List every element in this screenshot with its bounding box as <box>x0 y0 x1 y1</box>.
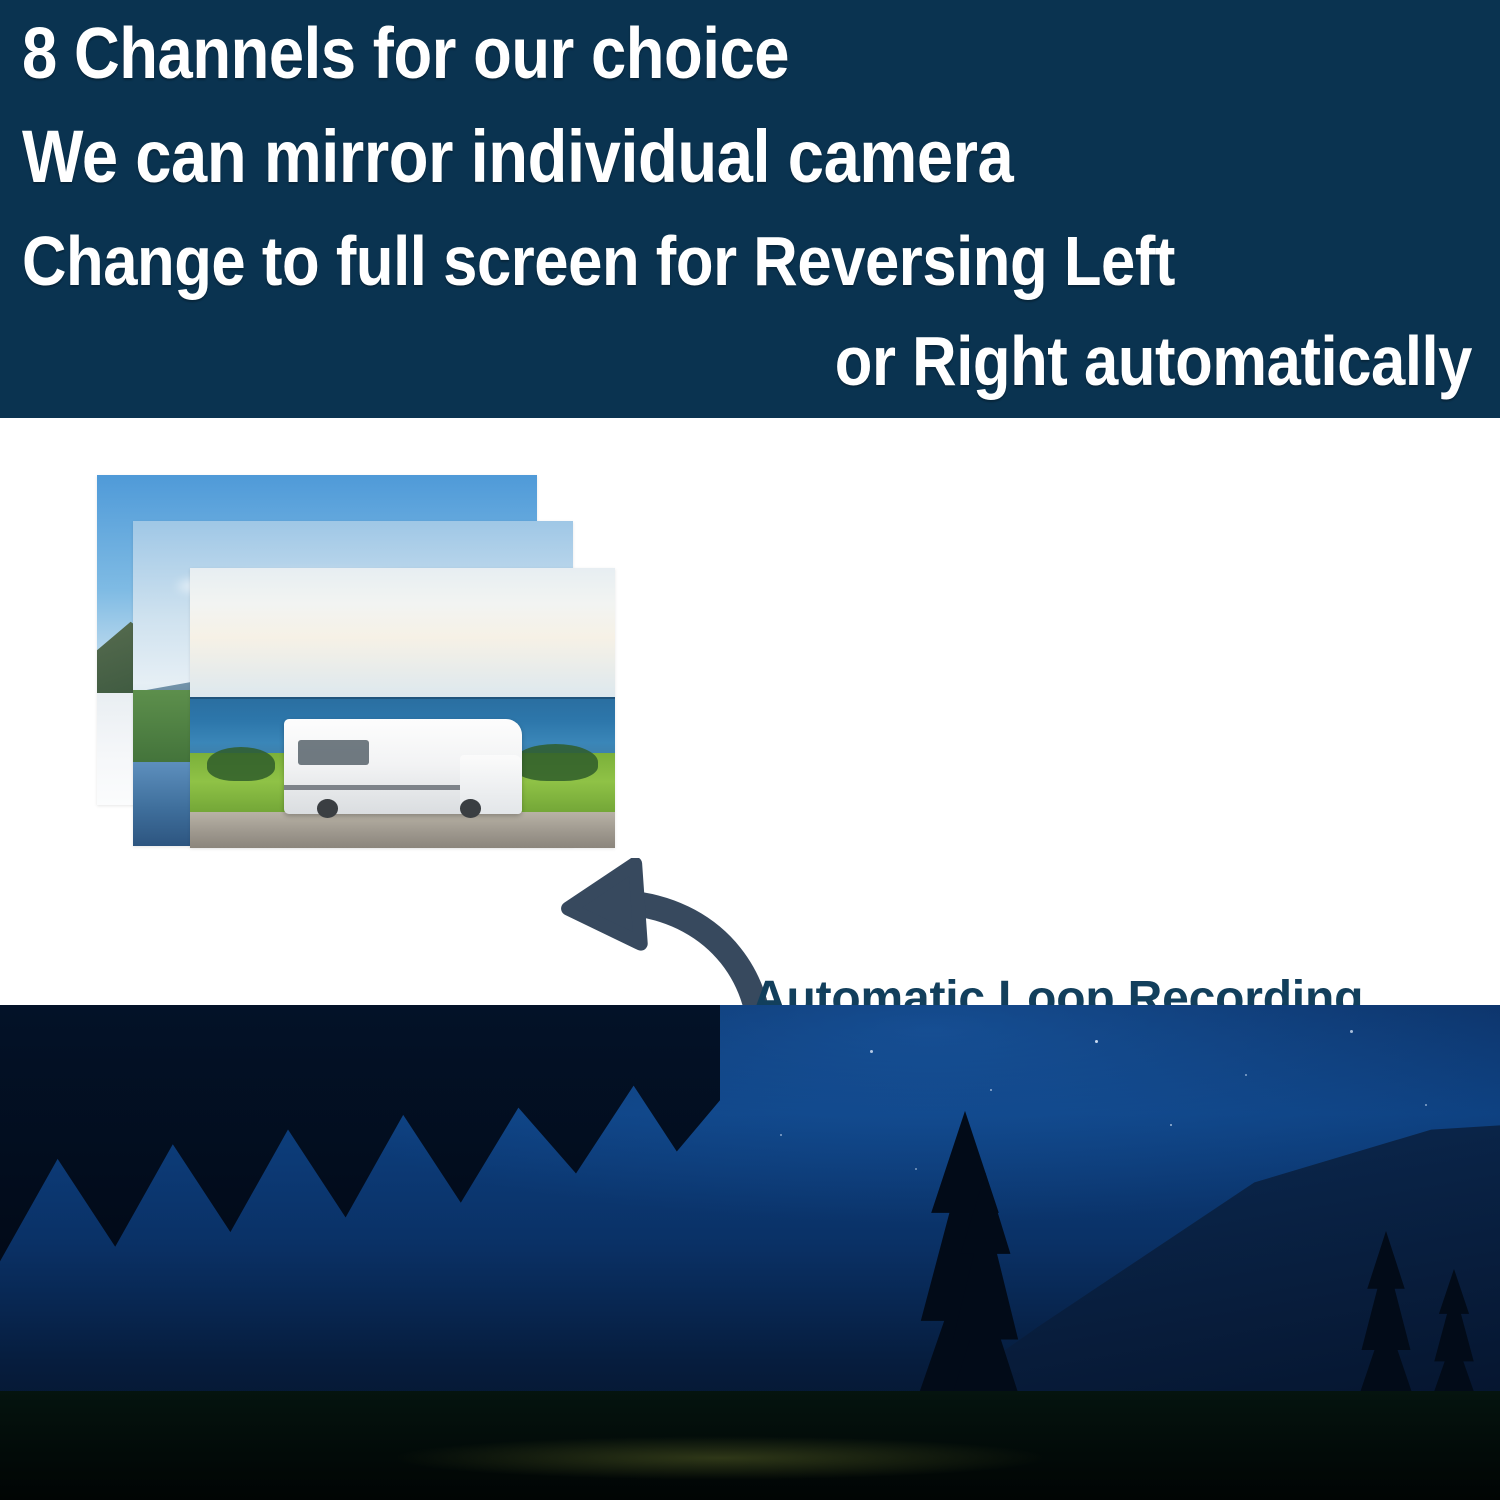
header-line-1: 8 Channels for our choice <box>22 18 1298 90</box>
header-line-3: Change to full screen for Reversing Left <box>22 226 1298 296</box>
night-vision-section: HD Night Vsion <box>0 1005 1500 1500</box>
header-line-4: or Right automatically <box>196 326 1472 396</box>
star <box>1350 1030 1353 1033</box>
rv-window <box>298 740 369 765</box>
star <box>1095 1040 1098 1043</box>
star <box>870 1050 873 1053</box>
photo-thumbnail-front <box>190 568 615 848</box>
rv-wheel <box>460 799 481 818</box>
horizon-line <box>190 697 615 699</box>
header-banner: 8 Channels for our choice We can mirror … <box>0 0 1500 418</box>
rv-vehicle <box>284 719 522 814</box>
bush <box>207 747 275 781</box>
star <box>1425 1104 1427 1106</box>
product-feature-graphic: 8 Channels for our choice We can mirror … <box>0 0 1500 1500</box>
star <box>780 1134 782 1136</box>
star <box>1170 1124 1172 1126</box>
header-line-2: We can mirror individual camera <box>22 120 1298 194</box>
gravel-road-layer <box>190 812 615 848</box>
loop-recording-section: Automatic Loop Recording The system come… <box>0 418 1500 1005</box>
lit-grass-glow <box>390 1436 1050 1481</box>
sky-layer <box>190 568 615 697</box>
bush <box>513 744 598 780</box>
